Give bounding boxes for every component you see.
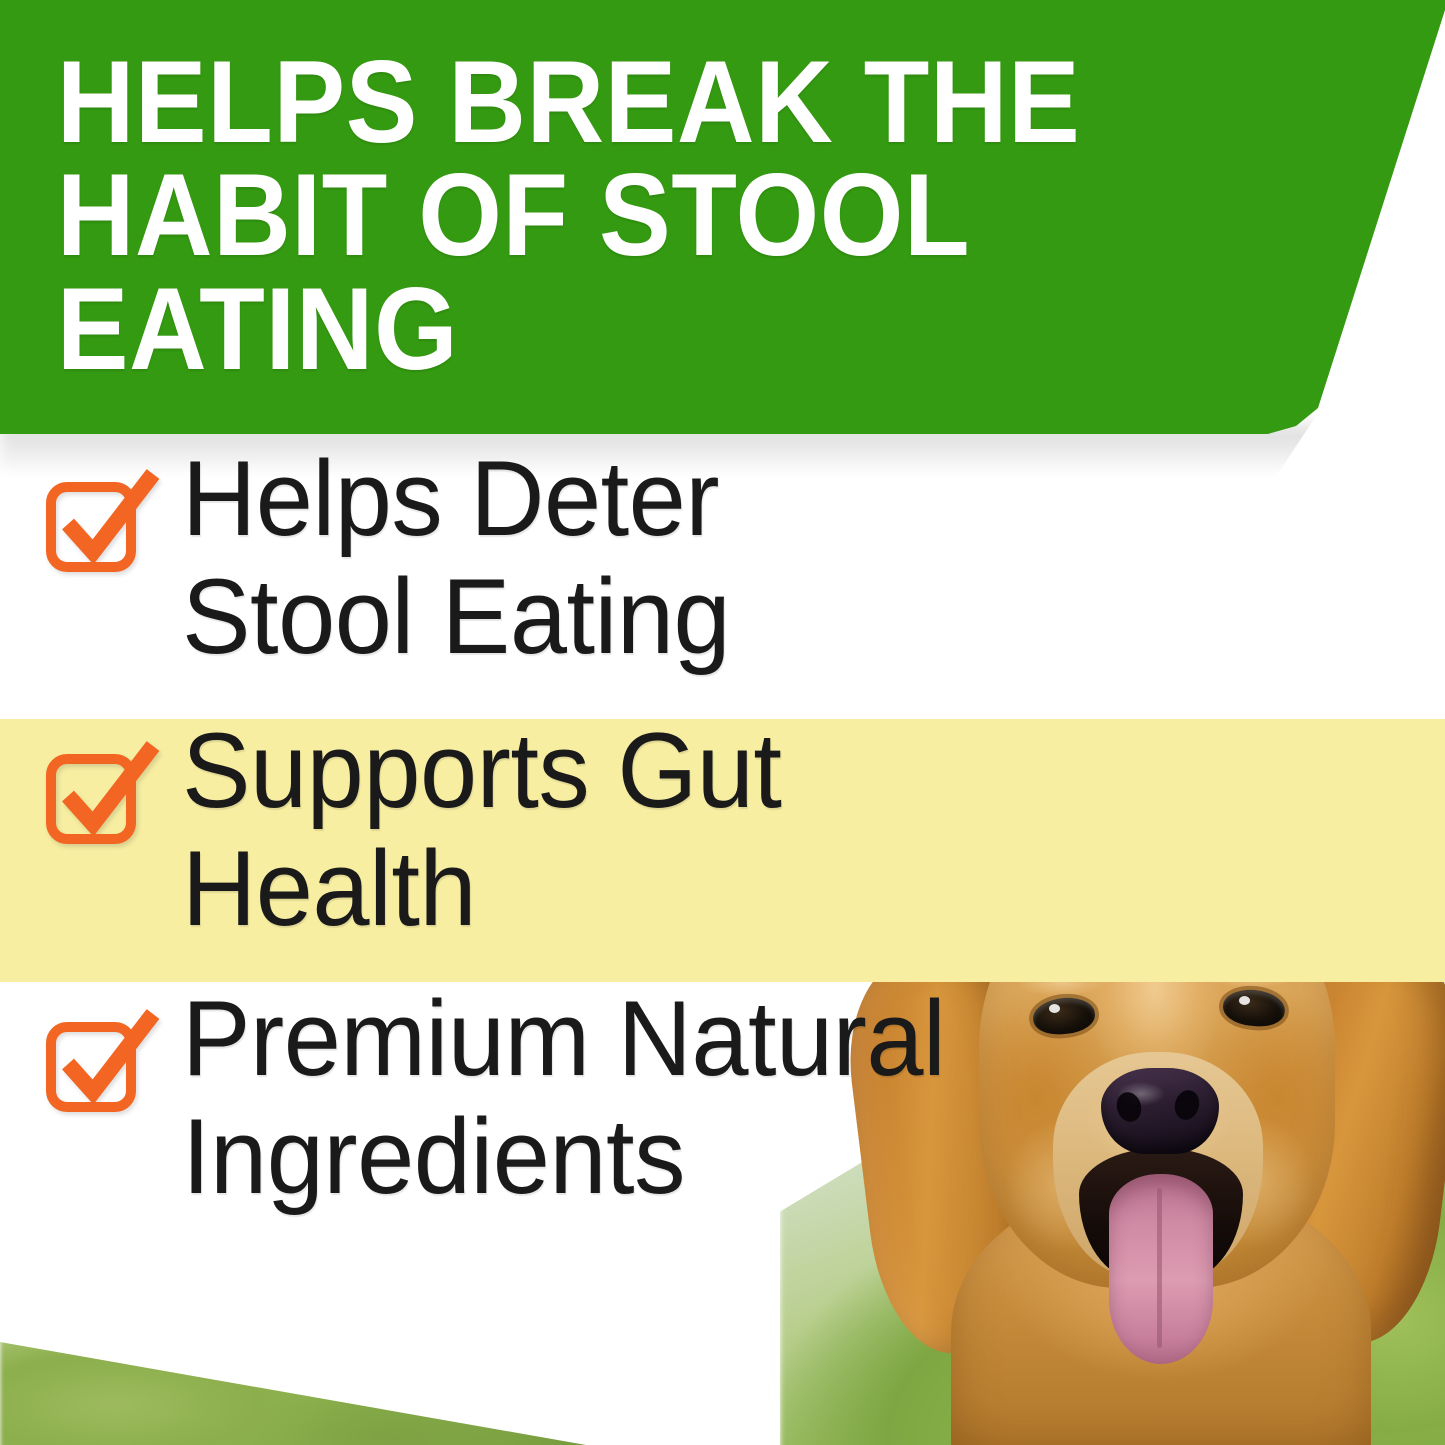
benefit-item-2: Supports Gut Health — [0, 712, 1000, 980]
orange-checkbox-icon — [44, 740, 160, 852]
benefits-list: Helps Deter Stool Eating Supports Gut He… — [0, 440, 1000, 1360]
benefit-item-1: Helps Deter Stool Eating — [0, 440, 1000, 712]
benefit-label-3: Premium Natural Ingredients — [182, 980, 967, 1215]
headline-banner: HELPS BREAK THE HABIT OF STOOL EATING — [0, 0, 1445, 434]
product-benefits-infographic: HELPS BREAK THE HABIT OF STOOL EATING He… — [0, 0, 1445, 1445]
benefit-label-2: Supports Gut Health — [182, 712, 967, 947]
headline-text: HELPS BREAK THE HABIT OF STOOL EATING — [0, 45, 1151, 385]
benefit-item-3: Premium Natural Ingredients — [0, 980, 1000, 1360]
dog-tongue-crease — [1157, 1188, 1162, 1348]
dog-eye-glint-left — [1049, 1004, 1060, 1013]
benefit-label-1: Helps Deter Stool Eating — [182, 440, 967, 675]
orange-checkbox-icon — [44, 1008, 160, 1120]
dog-eye-glint-right — [1239, 996, 1250, 1005]
orange-checkbox-icon — [44, 468, 160, 580]
